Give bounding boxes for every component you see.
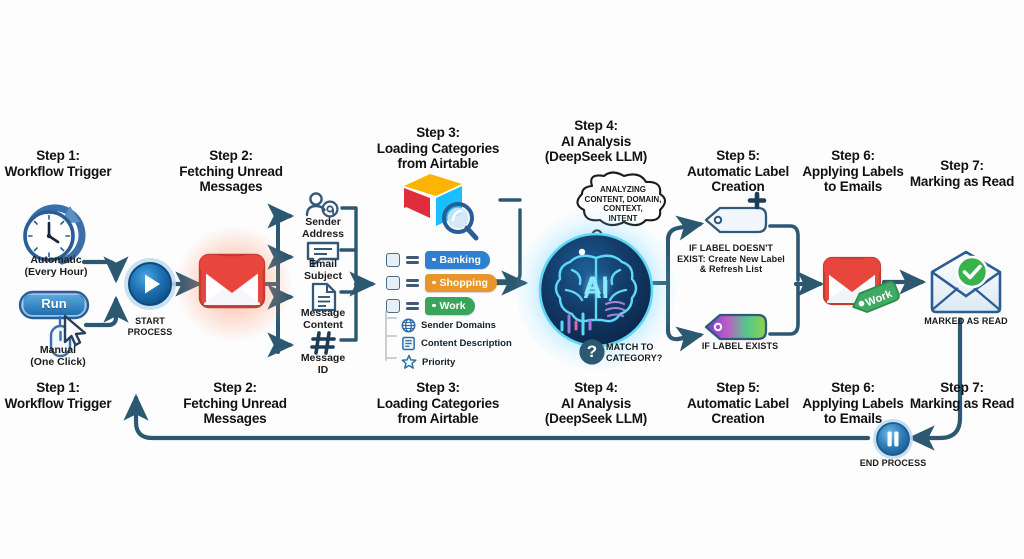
- attribute-priority: Priority: [401, 354, 455, 370]
- category-pill-work[interactable]: Work: [425, 297, 475, 315]
- marked-as-read-caption: MARKED AS READ: [912, 316, 1020, 327]
- ai-brain-label-overlay: AI: [536, 272, 656, 301]
- step-title-bottom-3: Step 3: Loading Categories from Airtable: [368, 380, 508, 427]
- drag-handle-icon: [406, 256, 419, 264]
- star-icon: [401, 354, 417, 370]
- attribute-label-priority: Priority: [422, 357, 455, 368]
- step-title-top-6: Step 6: Applying Labels to Emails: [798, 148, 908, 195]
- step-title-top-4: Step 4: AI Analysis (DeepSeek LLM): [528, 118, 664, 165]
- step-title-top-7: Step 7: Marking as Read: [900, 158, 1024, 189]
- attribute-label-sender-domains: Sender Domains: [421, 320, 496, 331]
- category-pill-shopping[interactable]: Shopping: [425, 274, 497, 292]
- step-title-top-1: Step 1: Workflow Trigger: [0, 148, 116, 179]
- category-row-shopping[interactable]: Shopping: [386, 274, 497, 292]
- workflow-diagram-canvas: Step 1: Workflow Trigger Step 2: Fetchin…: [0, 0, 1024, 559]
- category-row-banking[interactable]: Banking: [386, 251, 490, 269]
- step-title-bottom-1: Step 1: Workflow Trigger: [0, 380, 116, 411]
- airtable-search-icon: [396, 172, 478, 246]
- work-tag-badge: Work: [848, 280, 906, 324]
- step-title-bottom-7: Step 7: Marking as Read: [900, 380, 1024, 411]
- decision-glyph: ?: [578, 341, 606, 363]
- start-process-caption: START PROCESS: [108, 316, 192, 337]
- field-label-message-id: Message ID: [288, 352, 358, 376]
- attribute-content-description: Content Description: [401, 336, 512, 351]
- step-title-bottom-4: Step 4: AI Analysis (DeepSeek LLM): [528, 380, 664, 427]
- document-icon: [401, 336, 416, 351]
- category-checkbox-work[interactable]: [386, 299, 400, 313]
- gmail-icon: [198, 253, 266, 313]
- category-checkbox-banking[interactable]: [386, 253, 400, 267]
- step-title-bottom-5: Step 5: Automatic Label Creation: [676, 380, 800, 427]
- manual-trigger-caption: Manual (One Click): [10, 344, 106, 368]
- run-button-label: Run: [18, 294, 90, 314]
- step-title-top-3: Step 3: Loading Categories from Airtable: [368, 125, 508, 172]
- thought-bubble-text: ANALYZING CONTENT, DOMAIN, CONTEXT, INTE…: [570, 185, 676, 223]
- branch-create-label-text: IF LABEL DOESN'T EXIST: Create New Label…: [668, 243, 794, 275]
- branch-exists-label-text: IF LABEL EXISTS: [682, 341, 798, 352]
- category-pill-banking[interactable]: Banking: [425, 251, 490, 269]
- step-title-bottom-2: Step 2: Fetching Unread Messages: [172, 380, 298, 427]
- step-title-top-2: Step 2: Fetching Unread Messages: [168, 148, 294, 195]
- end-process-button[interactable]: [872, 418, 914, 460]
- match-to-category-label: MATCH TO CATEGORY?: [606, 342, 678, 363]
- globe-icon: [401, 318, 416, 333]
- create-label-tag-icon: [700, 194, 782, 242]
- field-label-sender-address: Sender Address: [288, 216, 358, 240]
- category-row-work[interactable]: Work: [386, 297, 475, 315]
- field-label-message-content: Message Content: [288, 307, 358, 331]
- attribute-sender-domains: Sender Domains: [401, 318, 496, 333]
- automatic-trigger-caption: Automatic (Every Hour): [6, 254, 106, 278]
- attribute-label-content-description: Content Description: [421, 338, 512, 349]
- drag-handle-icon: [406, 279, 419, 287]
- drag-handle-icon: [406, 302, 419, 310]
- field-label-email-subject: Email Subject: [288, 258, 358, 282]
- marked-as-read-icon: [928, 250, 1004, 314]
- step-title-top-5: Step 5: Automatic Label Creation: [676, 148, 800, 195]
- end-process-caption: END PROCESS: [845, 458, 941, 469]
- category-checkbox-shopping[interactable]: [386, 276, 400, 290]
- start-process-button[interactable]: [122, 256, 178, 312]
- sender-address-icon: [304, 192, 340, 218]
